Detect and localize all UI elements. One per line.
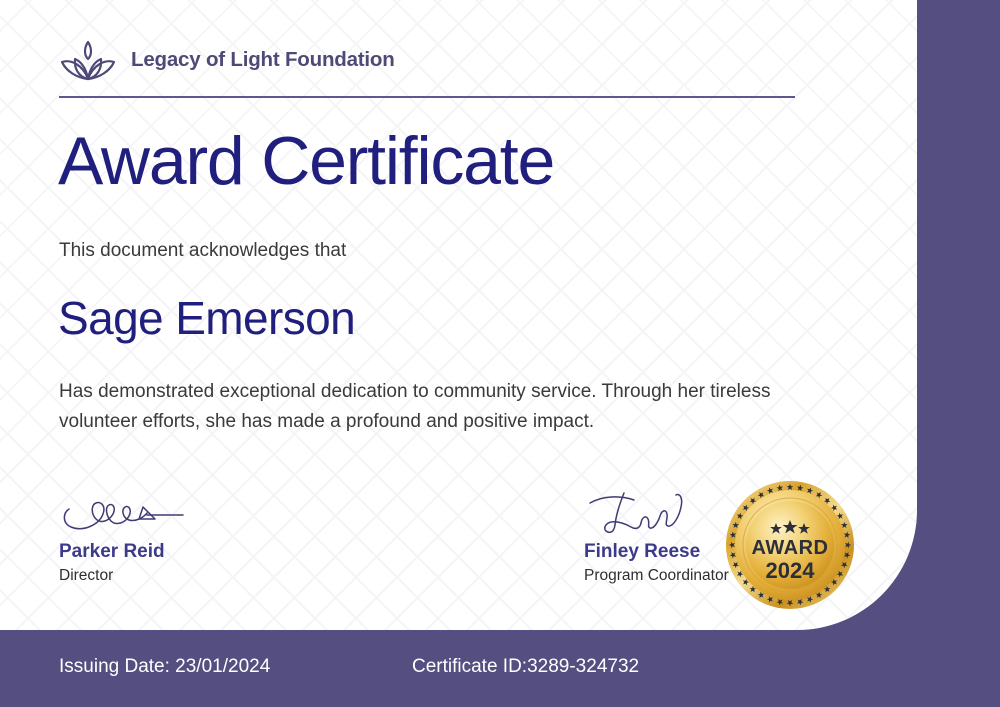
page-title: Award Certificate — [58, 126, 554, 197]
acknowledgement-text: This document acknowledges that — [59, 240, 346, 262]
recipient-name: Sage Emerson — [58, 291, 355, 345]
certificate-document: Legacy of Light Foundation Award Certifi… — [0, 0, 1000, 707]
gold-award-seal-icon: AWARD 2024 — [724, 479, 856, 611]
citation-text: Has demonstrated exceptional dedication … — [59, 377, 819, 437]
seal-year-label: 2024 — [766, 558, 816, 583]
header-divider — [59, 96, 795, 98]
seal-award-label: AWARD — [752, 537, 829, 559]
handwritten-signature-icon — [59, 487, 289, 539]
certificate-content: Legacy of Light Foundation Award Certifi… — [0, 0, 1000, 707]
issuing-date: Issuing Date: 23/01/2024 — [59, 656, 270, 678]
signatory-role: Director — [59, 567, 289, 585]
signature-block-director: Parker Reid Director — [59, 487, 289, 585]
certificate-header: Legacy of Light Foundation — [59, 38, 395, 82]
certificate-id: Certificate ID:3289-324732 — [412, 656, 639, 678]
lotus-flower-icon — [59, 38, 117, 82]
brand-name: Legacy of Light Foundation — [131, 48, 395, 72]
signature-area: Parker Reid Director Finley Reese Progra… — [59, 487, 814, 585]
certificate-footer: Issuing Date: 23/01/2024 Certificate ID:… — [0, 630, 1000, 707]
signatory-name: Parker Reid — [59, 541, 289, 563]
